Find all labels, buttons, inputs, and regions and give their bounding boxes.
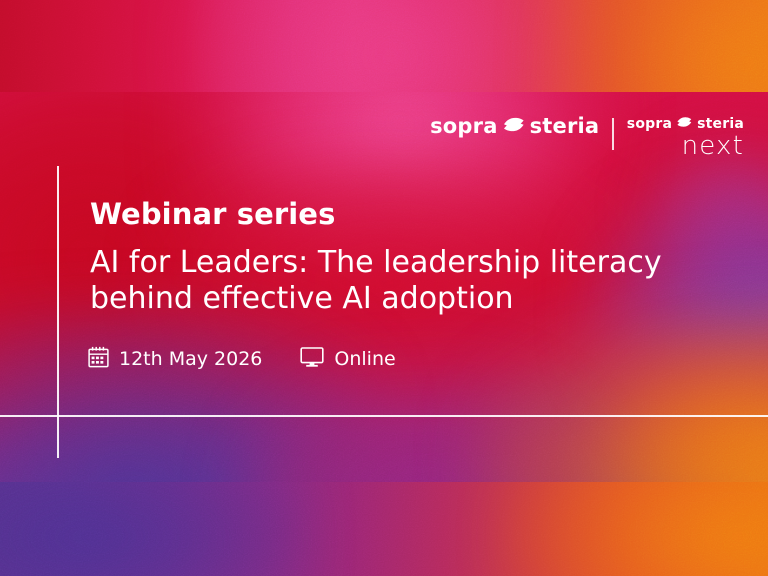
page-title: AI for Leaders: The leadership literacy … xyxy=(90,245,662,317)
band-top-base-gradient xyxy=(0,0,768,92)
logo-divider xyxy=(612,118,614,150)
logo-word-sopra: sopra xyxy=(430,116,498,137)
swirl-icon xyxy=(502,116,526,137)
meta-format-label: Online xyxy=(334,350,395,369)
next-logo-word-steria: steria xyxy=(697,117,744,131)
eyebrow-label: Webinar series xyxy=(90,198,662,231)
logo-word-steria: steria xyxy=(530,116,600,137)
text-block: Webinar series AI for Leaders: The leade… xyxy=(90,198,662,317)
next-wordmark: next xyxy=(682,133,744,159)
background-band-top xyxy=(0,0,768,92)
logo-lockup: sopra steria sopra xyxy=(430,116,744,159)
next-logo-word-sopra: sopra xyxy=(627,117,672,131)
webinar-promo-banner: sopra steria sopra xyxy=(0,0,768,576)
meta-item-date: 12th May 2026 xyxy=(88,346,262,373)
meta-item-format: Online xyxy=(300,346,395,373)
meta-row: 12th May 2026 Online xyxy=(88,346,396,373)
band-bottom-base-gradient xyxy=(0,482,768,576)
horizontal-rule xyxy=(0,415,768,417)
meta-date-label: 12th May 2026 xyxy=(119,350,262,369)
sopra-steria-next-logo[interactable]: sopra steria next xyxy=(627,116,744,159)
background-band-bottom xyxy=(0,482,768,576)
sopra-steria-logo[interactable]: sopra steria xyxy=(430,116,599,137)
swirl-icon xyxy=(676,116,693,131)
calendar-icon xyxy=(88,346,109,373)
monitor-icon xyxy=(300,346,324,373)
